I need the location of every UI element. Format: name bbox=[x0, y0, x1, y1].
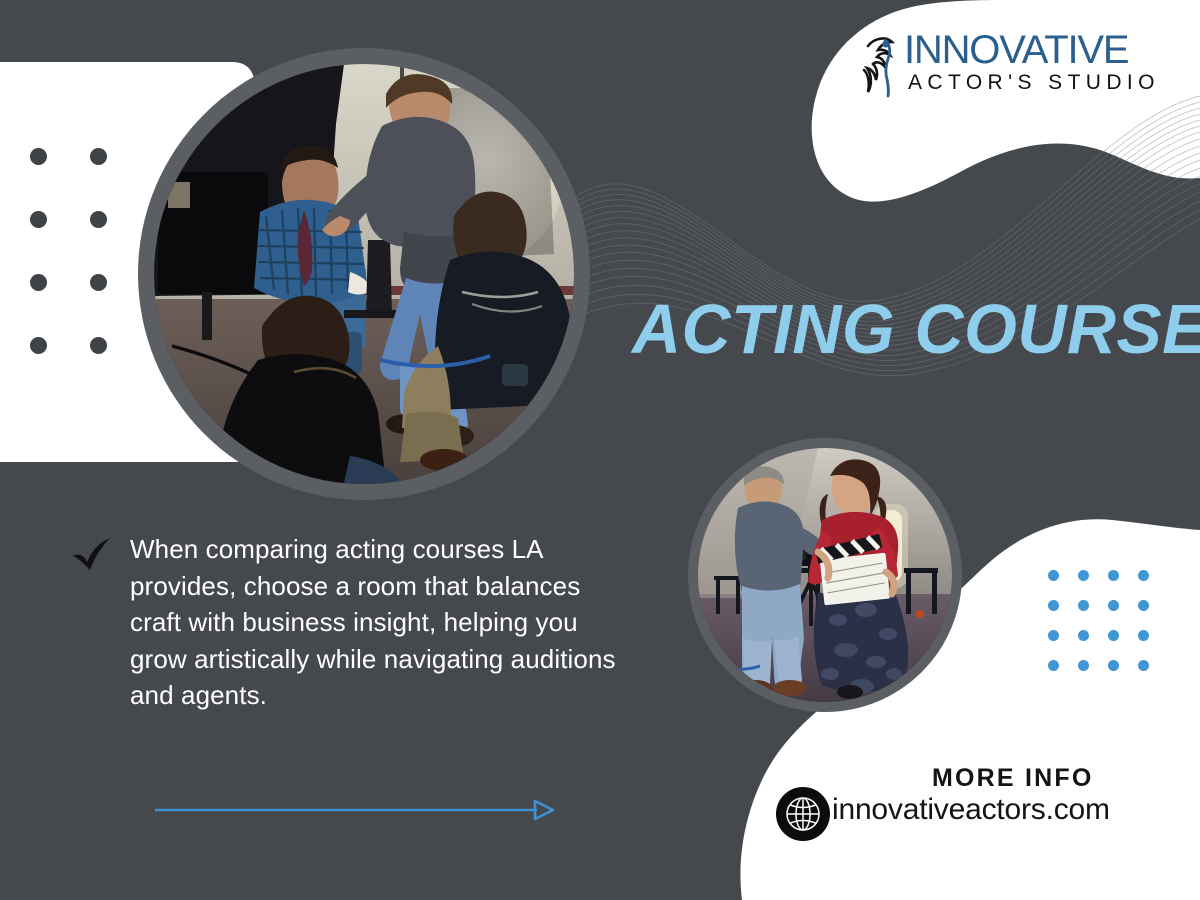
grid-dot bbox=[1078, 600, 1089, 611]
more-info-label: MORE INFO bbox=[932, 764, 1093, 793]
grid-dot bbox=[1048, 570, 1059, 581]
grid-dot bbox=[1138, 660, 1149, 671]
acting-class-photo bbox=[154, 64, 574, 484]
grid-dot bbox=[30, 274, 47, 291]
grid-dot bbox=[1138, 570, 1149, 581]
dancer-figure-icon bbox=[860, 32, 902, 98]
logo-primary-text: INNOVATIVE bbox=[904, 28, 1128, 72]
grid-dot bbox=[90, 274, 107, 291]
globe-icon bbox=[776, 787, 830, 841]
grid-dot bbox=[1138, 600, 1149, 611]
decorative-dot-grid-left bbox=[30, 148, 150, 400]
grid-dot bbox=[1078, 660, 1089, 671]
website-url[interactable]: innovativeactors.com bbox=[832, 793, 1110, 827]
grid-dot bbox=[1078, 630, 1089, 641]
grid-dot bbox=[30, 337, 47, 354]
body-paragraph: When comparing acting courses LA provide… bbox=[130, 531, 630, 714]
grid-dot bbox=[90, 337, 107, 354]
grid-dot bbox=[1108, 630, 1119, 641]
grid-dot bbox=[1108, 600, 1119, 611]
brand-logo: INNOVATIVE ACTOR'S STUDIO bbox=[860, 28, 1130, 104]
decorative-dot-grid-right bbox=[1048, 570, 1168, 690]
checkmark-icon bbox=[70, 534, 114, 576]
grid-dot bbox=[1108, 660, 1119, 671]
grid-dot bbox=[90, 148, 107, 165]
poster-canvas: INNOVATIVE ACTOR'S STUDIO bbox=[0, 0, 1200, 900]
page-title: ACTING COURSES LA bbox=[632, 286, 1117, 372]
grid-dot bbox=[30, 211, 47, 228]
grid-dot bbox=[1048, 660, 1059, 671]
grid-dot bbox=[90, 211, 107, 228]
grid-dot bbox=[30, 148, 47, 165]
scene-rehearsal-photo bbox=[698, 448, 952, 702]
right-arrow-icon bbox=[155, 798, 555, 822]
grid-dot bbox=[1048, 600, 1059, 611]
logo-secondary-text: ACTOR'S STUDIO bbox=[908, 70, 1160, 96]
grid-dot bbox=[1108, 570, 1119, 581]
grid-dot bbox=[1078, 570, 1089, 581]
grid-dot bbox=[1048, 630, 1059, 641]
grid-dot bbox=[1138, 630, 1149, 641]
